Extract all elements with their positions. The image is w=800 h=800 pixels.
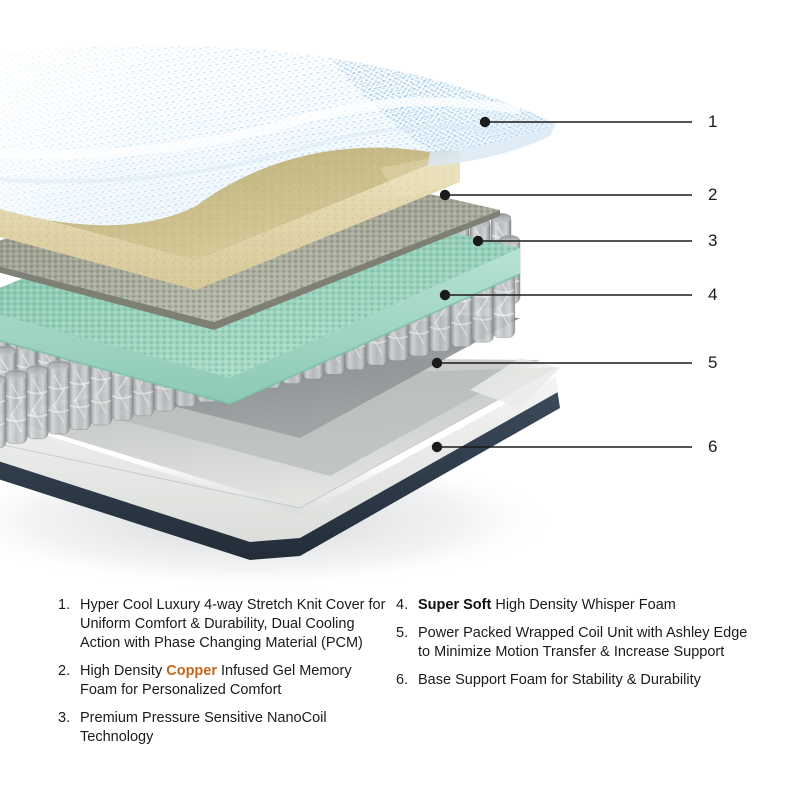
legend-item-text: High Density Copper Infused Gel Memory F… — [80, 662, 388, 700]
legend-item-text: Hyper Cool Luxury 4-way Stretch Knit Cov… — [80, 596, 388, 653]
legend-item-marker: 5. — [396, 624, 418, 643]
pocket-coil — [48, 360, 70, 434]
legend-text-segment: High Density — [80, 663, 166, 679]
legend-item-left-3: 3.Premium Pressure Sensitive NanoCoil Te… — [58, 709, 388, 747]
legend-item-marker: 4. — [396, 596, 418, 615]
callout-number-2: 2 — [708, 186, 718, 203]
legend-item-left-2: 2.High Density Copper Infused Gel Memory… — [58, 662, 388, 700]
legend-column-right: 4.Super Soft High Density Whisper Foam5.… — [396, 596, 756, 699]
legend-item-marker: 2. — [58, 662, 80, 681]
callout-number-3: 3 — [708, 232, 718, 249]
legend-item-text: Base Support Foam for Stability & Durabi… — [418, 671, 756, 690]
legend-text-segment: Base Support Foam for Stability & Durabi… — [418, 672, 701, 688]
pocket-coil — [5, 369, 27, 443]
legend-highlight-copper: Copper — [166, 663, 217, 679]
legend-item-text: Super Soft High Density Whisper Foam — [418, 596, 756, 615]
legend-item-text: Power Packed Wrapped Coil Unit with Ashl… — [418, 624, 756, 662]
callout-number-5: 5 — [708, 354, 718, 371]
legend-item-marker: 3. — [58, 709, 80, 728]
legend-item-right-1: 4.Super Soft High Density Whisper Foam — [396, 596, 756, 615]
legend-item-marker: 6. — [396, 671, 418, 690]
pocket-coil — [69, 356, 91, 430]
callout-dot-5 — [432, 358, 442, 368]
legend-item-left-1: 1.Hyper Cool Luxury 4-way Stretch Knit C… — [58, 596, 388, 653]
legend-item-right-3: 6.Base Support Foam for Stability & Dura… — [396, 671, 756, 690]
legend-text-segment: Hyper Cool Luxury 4-way Stretch Knit Cov… — [80, 597, 385, 651]
legend: 1.Hyper Cool Luxury 4-way Stretch Knit C… — [0, 596, 800, 800]
callout-dot-1 — [480, 117, 490, 127]
legend-item-marker: 1. — [58, 596, 80, 615]
callout-dot-4 — [440, 290, 450, 300]
callout-number-4: 4 — [708, 286, 718, 303]
callout-dot-3 — [473, 236, 483, 246]
mattress-layers-diagram-page: 123456 1.Hyper Cool Luxury 4-way Stretch… — [0, 0, 800, 800]
legend-text-segment: Power Packed Wrapped Coil Unit with Ashl… — [418, 625, 747, 660]
legend-highlight-bold: Super Soft — [418, 597, 491, 613]
callout-number-6: 6 — [708, 438, 718, 455]
legend-column-left: 1.Hyper Cool Luxury 4-way Stretch Knit C… — [58, 596, 388, 756]
mattress-cutaway-graphic — [0, 0, 800, 590]
mattress-illustration: 123456 — [0, 0, 800, 590]
legend-text-segment: High Density Whisper Foam — [491, 597, 676, 613]
legend-item-text: Premium Pressure Sensitive NanoCoil Tech… — [80, 709, 388, 747]
legend-text-segment: Premium Pressure Sensitive NanoCoil Tech… — [80, 710, 327, 745]
callout-number-1: 1 — [708, 113, 718, 130]
callout-dot-6 — [432, 442, 442, 452]
pocket-coil — [26, 365, 48, 439]
legend-item-right-2: 5.Power Packed Wrapped Coil Unit with As… — [396, 624, 756, 662]
callout-dot-2 — [440, 190, 450, 200]
